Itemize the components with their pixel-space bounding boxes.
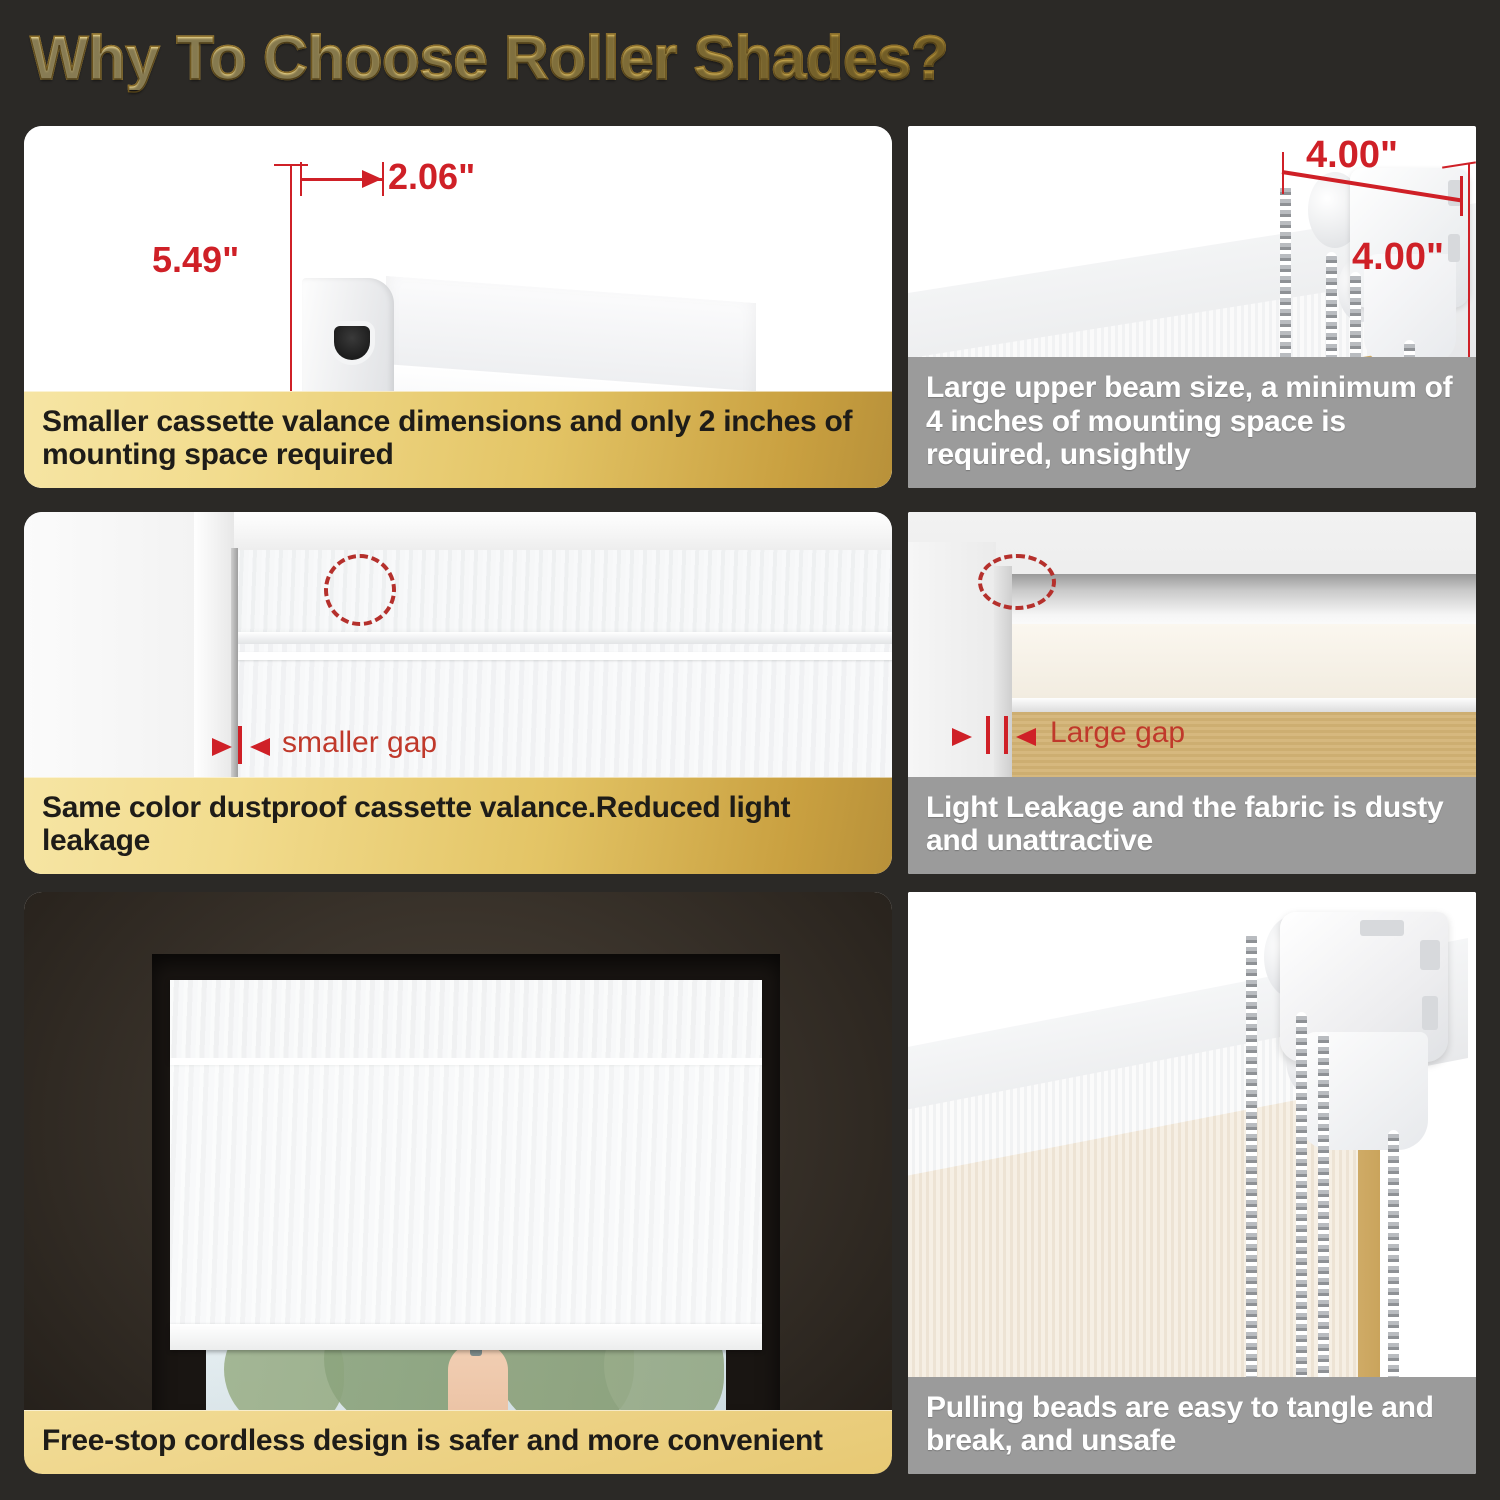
bead-chain-2: [1296, 1012, 1307, 1432]
valance-rail: [170, 1058, 762, 1065]
upper-beam: [1008, 624, 1476, 700]
panel-dustproof-valance: smaller gap Same color dustproof cassett…: [24, 512, 892, 874]
dim-tick-right: [1460, 176, 1463, 216]
bead-chain-3: [1318, 1032, 1329, 1432]
dimension-width-label: 2.06": [388, 156, 475, 198]
valance-lip: [234, 632, 892, 644]
shade-bottom-bar: [170, 1324, 762, 1350]
gap-tick-1: [986, 716, 990, 754]
bracket-notch-3: [1360, 920, 1404, 936]
dimension-height-label: 5.49": [152, 239, 239, 281]
dim-tick-right: [382, 162, 384, 196]
panel-6-caption: Pulling beads are easy to tangle and bre…: [908, 1377, 1476, 1474]
valance-rail: [232, 652, 892, 660]
bracket-notch-2: [1448, 234, 1460, 262]
panel-3-caption: Same color dustproof cassette valance.Re…: [24, 777, 892, 874]
gap-arrow-left: [212, 738, 232, 756]
panel-5-caption: Free-stop cordless design is safer and m…: [24, 1410, 892, 1474]
panel-5-artwork: [24, 892, 892, 1474]
gap-label: Large gap: [1050, 716, 1185, 750]
panel-large-beam: 4.00" 4.00" Large upper beam size, a min…: [908, 126, 1476, 488]
panel-4-caption: Light Leakage and the fabric is dusty an…: [908, 777, 1476, 874]
panel-smaller-cassette: 2.06" 5.49" Smaller cassette valance dim…: [24, 126, 892, 488]
gap-label: smaller gap: [282, 726, 437, 760]
panel-2-caption: Large upper beam size, a minimum of 4 in…: [908, 357, 1476, 488]
dim-cap-top: [274, 164, 308, 166]
bracket-notch-1: [1420, 940, 1440, 970]
highlight-circle: [978, 554, 1056, 610]
cassette-valance: [170, 980, 762, 1060]
shade-fabric: [236, 644, 892, 784]
gap-tick: [238, 726, 242, 764]
page-title: Why To Choose Roller Shades?: [30, 28, 948, 90]
roller-tube: [1000, 574, 1476, 628]
gap-arrow-left: [952, 728, 972, 746]
panel-1-caption: Smaller cassette valance dimensions and …: [24, 391, 892, 488]
gap-arrow-right: [1016, 728, 1036, 746]
bead-chain-1: [1246, 932, 1257, 1432]
dim-arrow-right: [362, 170, 382, 188]
shade-fabric: [170, 1065, 762, 1349]
panel-cordless-design: Free-stop cordless design is safer and m…: [24, 892, 892, 1474]
gap-arrow-right: [250, 738, 270, 756]
page-header: Why To Choose Roller Shades?: [0, 0, 1500, 118]
panel-pulling-beads: Pulling beads are easy to tangle and bre…: [908, 892, 1476, 1474]
gap-tick-2: [1004, 716, 1008, 754]
panel-light-leakage: Large gap Light Leakage and the fabric i…: [908, 512, 1476, 874]
bracket-notch-2: [1422, 996, 1438, 1030]
dimension-height-label: 4.00": [1352, 236, 1444, 279]
highlight-circle: [324, 554, 396, 626]
window-head-trim: [229, 512, 892, 552]
beam-lip: [1006, 698, 1476, 712]
dimension-width-label: 4.00": [1306, 134, 1398, 177]
